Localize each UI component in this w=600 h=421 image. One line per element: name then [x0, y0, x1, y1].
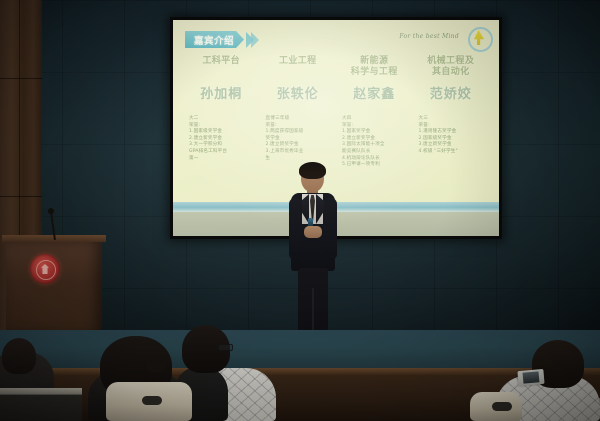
auditorium-chair[interactable] — [106, 382, 192, 421]
presenter-hands — [304, 226, 322, 238]
guest-grade: 大三 — [419, 116, 485, 123]
guest-honor-item: 生 — [266, 156, 332, 163]
auditorium-chair-right[interactable] — [470, 392, 522, 421]
guest-honor-list: 1.国家奖学金2.唐立新奖学金3.国际太阳能十项全能竞赛队队长4.机动辩论队队长… — [342, 129, 408, 169]
guest-honor-item: 3.大一学积分和 — [189, 142, 255, 149]
guest-honor-item: 3.国际太阳能十项全 — [342, 142, 408, 149]
guest-major: 工科平台 — [183, 56, 260, 78]
guest-honor-list: 1.潘则隆志奖学金2.国家级奖学金3.唐立新奖学金4.校级 "三好学生" — [419, 129, 485, 155]
presenter-right-arm — [324, 198, 337, 260]
guest-honor-list: 1.国家级奖学金2.唐立新奖学金3.大一学积分和GPA排名工科平台第一 — [189, 129, 255, 162]
guest-major: 机械工程及 其自动化 — [413, 56, 490, 78]
guest-honor-item: 1.两度获得国家级 — [266, 129, 332, 136]
guest-grade: 大四 — [342, 116, 408, 123]
guest-name: 范娇姣 — [413, 83, 490, 102]
guest-honor-item: 2.唐立新奖学金 — [266, 142, 332, 149]
guest-honor-item: 3.上海市优秀毕业 — [266, 149, 332, 156]
guest-honor-item: 4.校级 "三好学生" — [419, 149, 485, 156]
guest-column: 机械工程及 其自动化 范娇姣 — [413, 56, 490, 102]
guest-detail: 直博三年级 荣誉: 1.两度获得国家级奖学金2.唐立新奖学金3.上海市优秀毕业生 — [260, 116, 337, 169]
stage-floor — [0, 330, 600, 372]
chevron-right-icon-secondary — [251, 32, 259, 48]
guest-honor-item: GPA排名工科平台 — [189, 149, 255, 156]
guest-name: 赵家鑫 — [336, 83, 413, 102]
guest-columns: 工科平台 孙加桐 工业工程 张轶伦 新能源 科学与工程 赵家鑫 机械工程及 其自… — [183, 56, 489, 102]
guest-detail: 大三 荣誉: 1.潘则隆志奖学金2.国家级奖学金3.唐立新奖学金4.校级 "三好… — [413, 116, 490, 169]
stage-edge-trim — [0, 368, 600, 375]
slide-title-banner: 嘉宾介绍 — [185, 31, 259, 48]
guest-major: 工业工程 — [260, 56, 337, 78]
guest-detail: 大二 荣誉: 1.国家级奖学金2.唐立新奖学金3.大一学积分和GPA排名工科平台… — [183, 116, 260, 169]
university-crest-emblem — [30, 254, 60, 284]
front-row-table-left — [0, 388, 82, 421]
guest-honor-item: 1.潘则隆志奖学金 — [419, 129, 485, 136]
slide-tagline: For the best Mind — [399, 33, 459, 40]
smartphone-camera-icon[interactable] — [517, 369, 544, 386]
guest-grade: 直博三年级 — [266, 116, 332, 123]
guest-honor-item: 1.国家级奖学金 — [189, 129, 255, 136]
guest-honor-item: 3.唐立新奖学金 — [419, 142, 485, 149]
guest-column: 新能源 科学与工程 赵家鑫 — [336, 56, 413, 102]
presenter-hair — [299, 162, 326, 179]
guest-honor-list: 1.两度获得国家级奖学金2.唐立新奖学金3.上海市优秀毕业生 — [266, 129, 332, 162]
guest-honor-item: 能竞赛队队长 — [342, 149, 408, 156]
guest-honor-item: 1.国家奖学金 — [342, 129, 408, 136]
guest-grade: 大二 — [189, 116, 255, 123]
lectern — [6, 240, 102, 335]
presenter-left-arm — [289, 198, 302, 260]
slide-title-text: 嘉宾介绍 — [185, 31, 244, 48]
guest-detail-columns: 大二 荣誉: 1.国家级奖学金2.唐立新奖学金3.大一学积分和GPA排名工科平台… — [183, 116, 489, 169]
guest-name: 孙加桐 — [183, 83, 260, 102]
guest-major: 新能源 科学与工程 — [336, 56, 413, 78]
guest-column: 工科平台 孙加桐 — [183, 56, 260, 102]
lecture-hall-scene: 嘉宾介绍 For the best Mind 工科平台 孙加桐 — [0, 0, 600, 421]
guest-detail: 大四 荣誉: 1.国家奖学金2.唐立新奖学金3.国际太阳能十项全能竞赛队队长4.… — [336, 116, 413, 169]
guest-honor-item: 5.已申请一项专利 — [342, 162, 408, 169]
university-logo-icon — [467, 26, 491, 50]
guest-name: 张轶伦 — [260, 83, 337, 102]
guest-column: 工业工程 张轶伦 — [260, 56, 337, 102]
eyeglasses-icon — [218, 344, 233, 351]
audience-head-left-edge — [2, 338, 36, 374]
guest-honor-item: 第一 — [189, 156, 255, 163]
hair-bun — [146, 356, 166, 373]
